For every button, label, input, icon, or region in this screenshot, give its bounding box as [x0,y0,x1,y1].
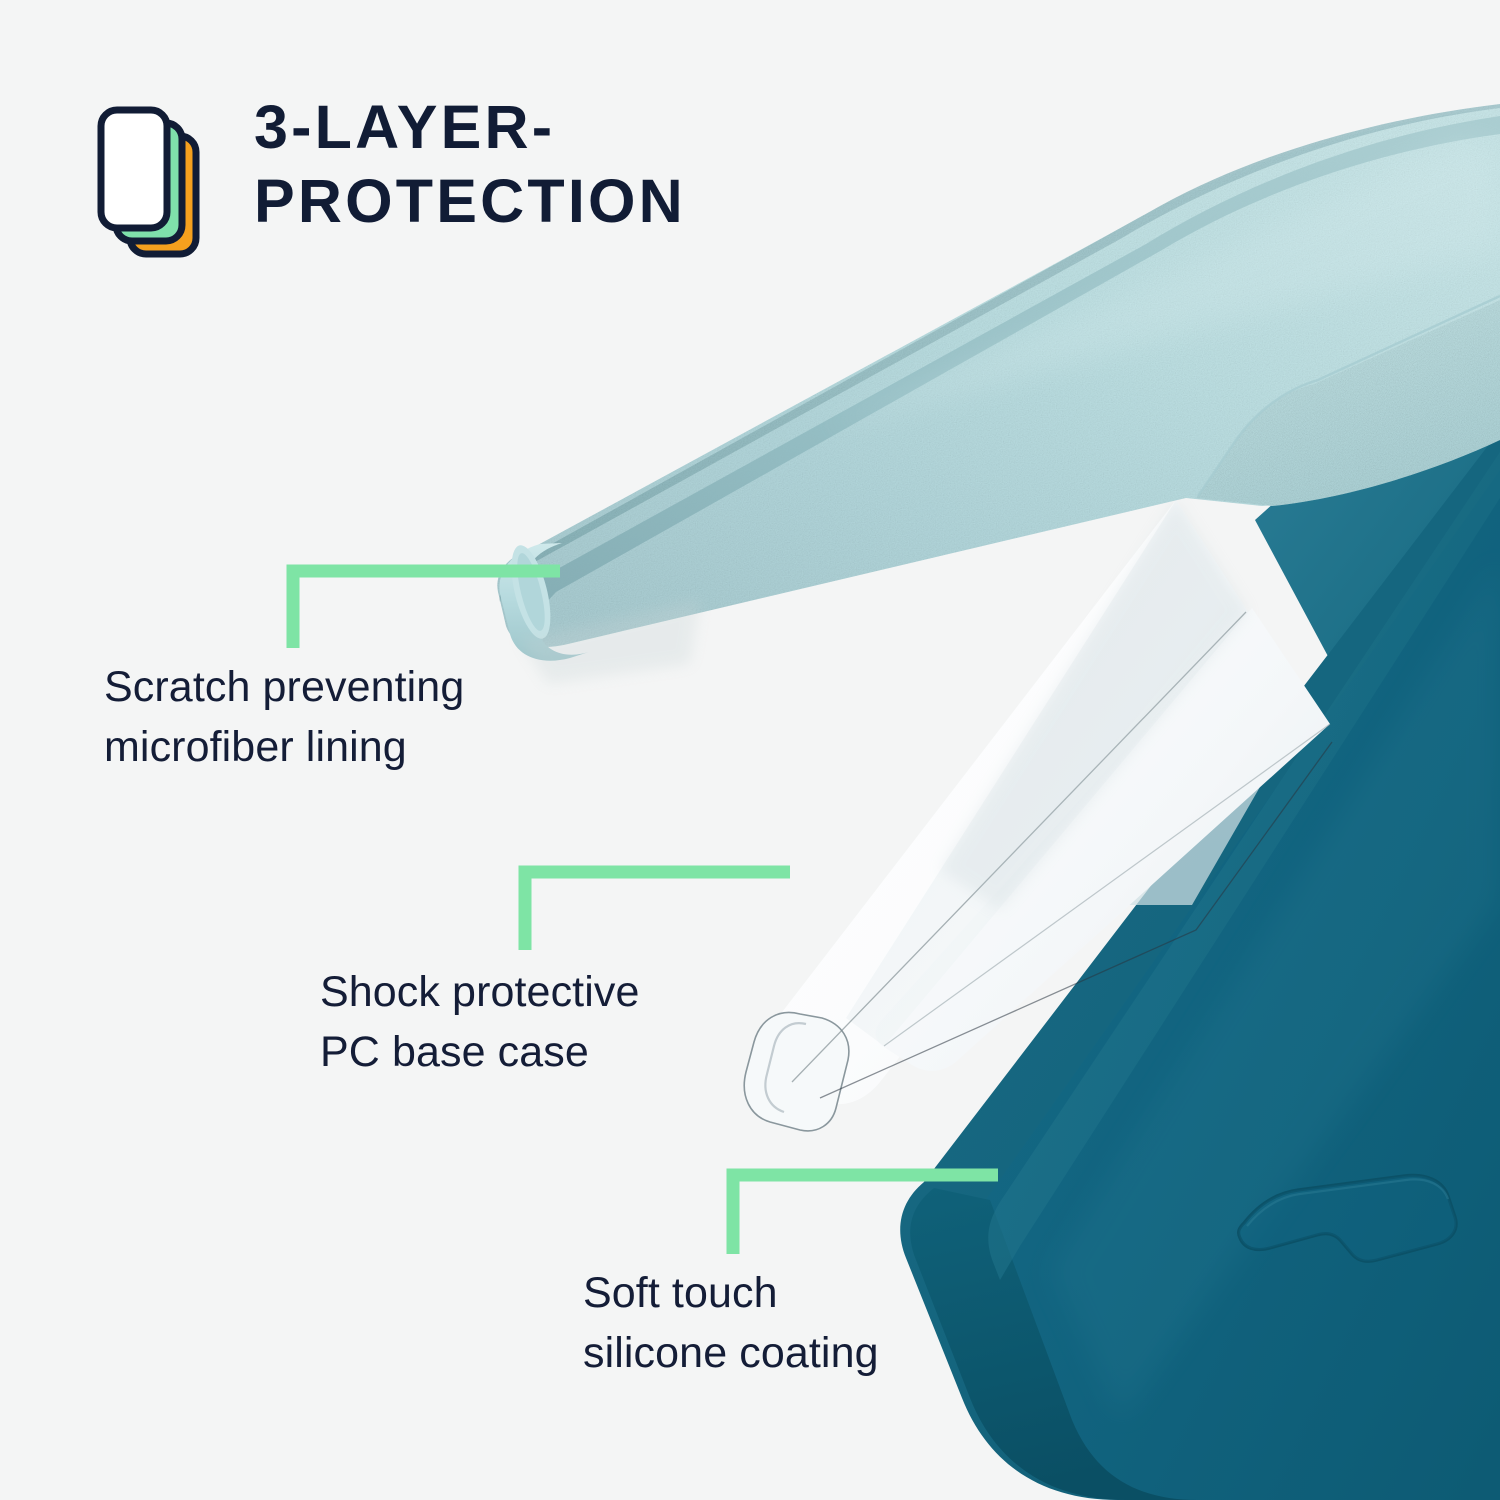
title-line-1: 3-LAYER- [254,90,686,164]
callout-label-microfiber: Scratch preventing microfiber lining [104,657,464,777]
infographic-page: 3-LAYER- PROTECTION Scratch preventing m… [0,0,1500,1500]
header: 3-LAYER- PROTECTION [92,96,686,274]
three-layer-stack-icon [92,104,212,274]
callout-label-pc-base: Shock protective PC base case [320,962,639,1082]
callout-label-silicone: Soft touch silicone coating [583,1263,879,1383]
title-line-2: PROTECTION [254,164,686,238]
page-title: 3-LAYER- PROTECTION [254,90,686,238]
front-card-white-icon [101,110,167,228]
